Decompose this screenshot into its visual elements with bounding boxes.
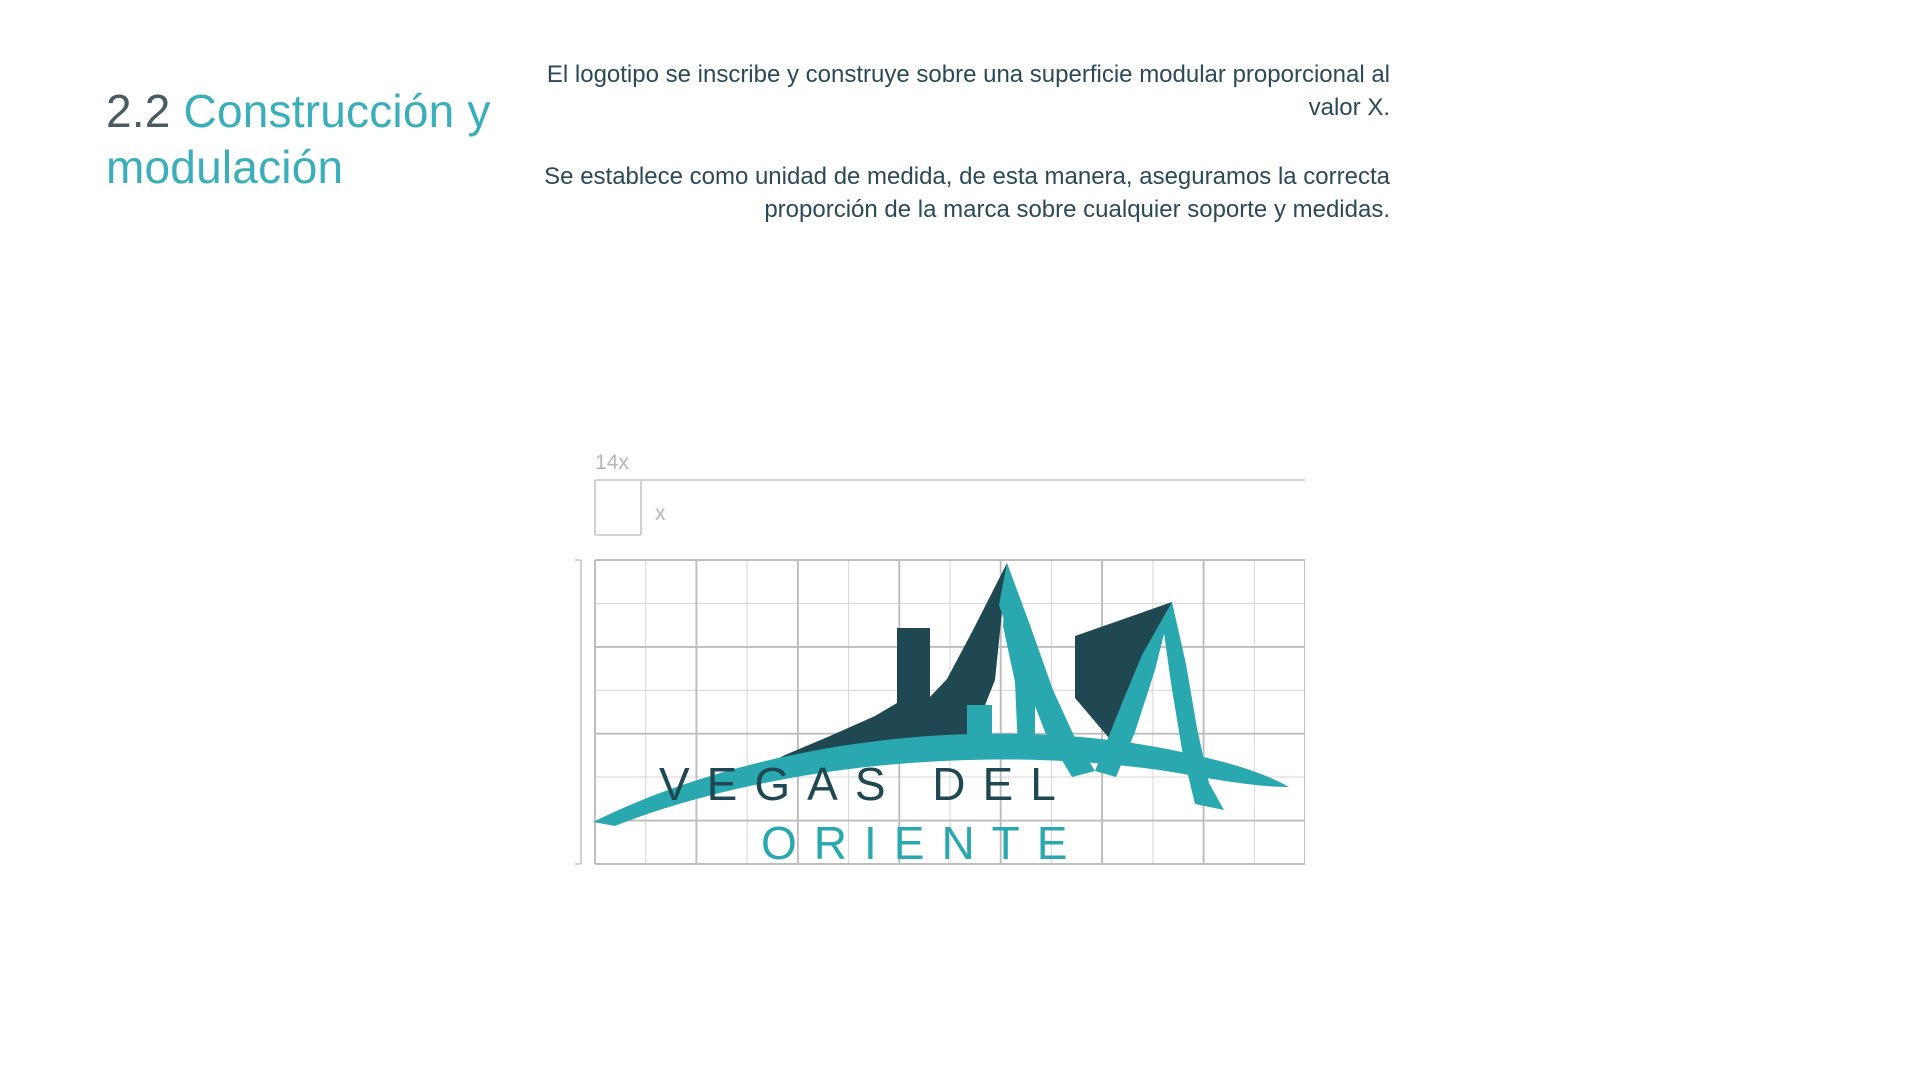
- page-title-text: [171, 85, 184, 137]
- wordmark-line-1: VEGAS DEL: [659, 758, 1073, 810]
- unit-measure-row: x: [595, 480, 1305, 535]
- width-label: 14x: [595, 451, 629, 474]
- height-bracket: [575, 560, 581, 864]
- wordmark-line-2: ORIENTE: [761, 817, 1084, 869]
- unit-label: x: [655, 502, 666, 525]
- intro-paragraph-1: El logotipo se inscribe y construye sobr…: [510, 58, 1390, 124]
- intro-paragraph-2: Se establece como unidad de medida, de e…: [510, 160, 1390, 226]
- logo-construction-diagram: 14x x: [575, 450, 1305, 880]
- intro-text-block: El logotipo se inscribe y construye sobr…: [510, 58, 1390, 226]
- section-number: 2.2: [106, 85, 171, 137]
